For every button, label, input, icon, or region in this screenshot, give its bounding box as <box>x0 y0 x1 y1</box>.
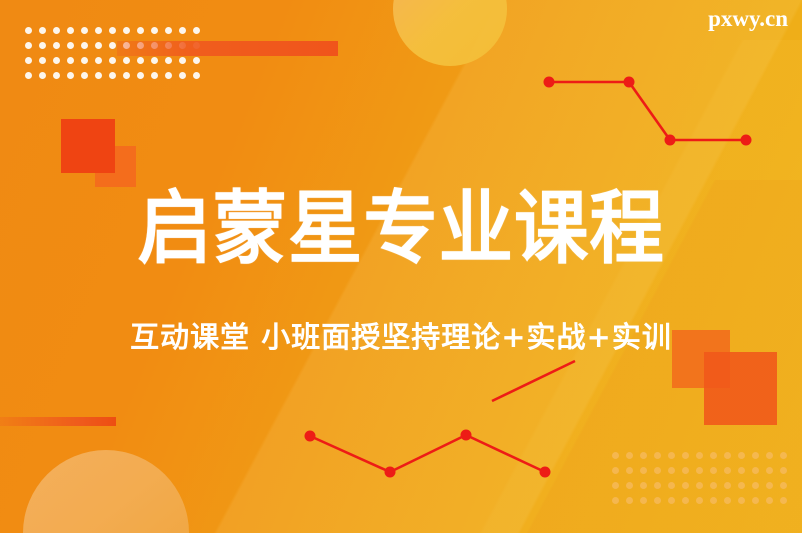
grid-dot <box>738 452 745 459</box>
grid-dot <box>123 57 130 64</box>
grid-dot <box>752 467 759 474</box>
polyline-bottom-segment <box>310 436 390 472</box>
accent-bar-top <box>117 41 338 56</box>
grid-dot <box>682 452 689 459</box>
grid-dot <box>137 42 144 49</box>
polyline-bottom-marker <box>385 467 396 478</box>
grid-dot <box>752 482 759 489</box>
grid-dot <box>95 27 102 34</box>
grid-dot <box>696 497 703 504</box>
banner-subtitle: 互动课堂 小班面授坚持理论+实战+实训 <box>0 318 802 356</box>
grid-dot <box>710 482 717 489</box>
grid-dot <box>25 57 32 64</box>
grid-dot <box>25 42 32 49</box>
polyline-bottom-marker <box>461 430 472 441</box>
grid-dot <box>710 452 717 459</box>
grid-dot <box>696 482 703 489</box>
grid-dot <box>738 482 745 489</box>
grid-dot <box>179 57 186 64</box>
decorative-square-left-front <box>61 119 115 173</box>
grid-dot <box>39 57 46 64</box>
grid-dot <box>738 467 745 474</box>
grid-dot <box>67 57 74 64</box>
grid-dot <box>654 482 661 489</box>
grid-dot <box>696 467 703 474</box>
grid-dot <box>151 57 158 64</box>
grid-dot <box>179 27 186 34</box>
grid-dot <box>123 27 130 34</box>
dot-grid-top-left <box>25 27 207 87</box>
diagonal-sweep-band-2 <box>0 40 802 533</box>
grid-dot <box>738 497 745 504</box>
polyline-top-right-marker <box>741 135 752 146</box>
grid-dot <box>193 27 200 34</box>
grid-dot <box>780 467 787 474</box>
polyline-bottom-marker <box>540 467 551 478</box>
grid-dot <box>109 72 116 79</box>
grid-dot <box>612 452 619 459</box>
grid-dot <box>668 467 675 474</box>
banner-title: 启蒙星专业课程 <box>28 186 774 272</box>
grid-dot <box>123 72 130 79</box>
grid-dot <box>193 42 200 49</box>
grid-dot <box>151 42 158 49</box>
grid-dot <box>612 497 619 504</box>
grid-dot <box>696 452 703 459</box>
grid-dot <box>752 497 759 504</box>
grid-dot <box>81 72 88 79</box>
polyline-top-right-marker <box>544 77 555 88</box>
grid-dot <box>193 57 200 64</box>
grid-dot <box>137 27 144 34</box>
grid-dot <box>39 27 46 34</box>
grid-dot <box>109 42 116 49</box>
grid-dot <box>137 57 144 64</box>
grid-dot <box>53 57 60 64</box>
grid-dot <box>626 482 633 489</box>
grid-dot <box>668 497 675 504</box>
grid-dot <box>612 467 619 474</box>
grid-dot <box>780 497 787 504</box>
grid-dot <box>123 42 130 49</box>
grid-dot <box>53 42 60 49</box>
grid-dot <box>95 72 102 79</box>
decorative-circle-top <box>393 0 507 66</box>
grid-dot <box>81 57 88 64</box>
polyline-bottom-segment <box>466 435 545 472</box>
grid-dot <box>724 482 731 489</box>
line-segment-middle-segment <box>492 361 575 401</box>
grid-dot <box>179 72 186 79</box>
grid-dot <box>640 452 647 459</box>
accent-bar-left <box>0 417 116 426</box>
grid-dot <box>780 482 787 489</box>
grid-dot <box>752 452 759 459</box>
watermark-label: pxwy.cn <box>708 5 788 33</box>
grid-dot <box>682 497 689 504</box>
grid-dot <box>165 57 172 64</box>
grid-dot <box>53 27 60 34</box>
grid-dot <box>39 72 46 79</box>
grid-dot <box>53 72 60 79</box>
grid-dot <box>668 452 675 459</box>
grid-dot <box>626 467 633 474</box>
grid-dot <box>724 467 731 474</box>
grid-dot <box>780 452 787 459</box>
grid-dot <box>640 482 647 489</box>
grid-dot <box>766 497 773 504</box>
grid-dot <box>766 482 773 489</box>
grid-dot <box>165 27 172 34</box>
grid-dot <box>151 72 158 79</box>
grid-dot <box>109 27 116 34</box>
grid-dot <box>25 27 32 34</box>
grid-dot <box>724 497 731 504</box>
grid-dot <box>654 497 661 504</box>
grid-dot <box>640 497 647 504</box>
grid-dot <box>612 482 619 489</box>
grid-dot <box>67 42 74 49</box>
polyline-top-right-marker <box>665 135 676 146</box>
grid-dot <box>81 27 88 34</box>
grid-dot <box>151 27 158 34</box>
grid-dot <box>67 72 74 79</box>
grid-dot <box>39 42 46 49</box>
grid-dot <box>95 42 102 49</box>
grid-dot <box>710 497 717 504</box>
grid-dot <box>137 72 144 79</box>
grid-dot <box>626 452 633 459</box>
grid-dot <box>67 27 74 34</box>
grid-dot <box>179 42 186 49</box>
dot-grid-bottom-right <box>612 452 794 512</box>
grid-dot <box>682 482 689 489</box>
grid-dot <box>654 467 661 474</box>
polyline-top-right-marker <box>624 77 635 88</box>
grid-dot <box>766 467 773 474</box>
grid-dot <box>626 497 633 504</box>
grid-dot <box>25 72 32 79</box>
grid-dot <box>724 452 731 459</box>
decorative-square-left-back <box>95 146 136 187</box>
grid-dot <box>81 42 88 49</box>
polyline-bottom-marker <box>305 431 316 442</box>
decorative-circle-bottom <box>23 450 189 533</box>
polyline-bottom-segment <box>390 435 466 472</box>
grid-dot <box>640 467 647 474</box>
grid-dot <box>710 467 717 474</box>
grid-dot <box>766 452 773 459</box>
grid-dot <box>109 57 116 64</box>
grid-dot <box>654 452 661 459</box>
promo-banner: 启蒙星专业课程 互动课堂 小班面授坚持理论+实战+实训 pxwy.cn <box>0 0 802 533</box>
grid-dot <box>668 482 675 489</box>
grid-dot <box>682 467 689 474</box>
grid-dot <box>193 72 200 79</box>
grid-dot <box>165 72 172 79</box>
polyline-top-right-segment <box>629 82 670 140</box>
decorative-square-right-front <box>704 352 777 425</box>
grid-dot <box>95 57 102 64</box>
grid-dot <box>165 42 172 49</box>
